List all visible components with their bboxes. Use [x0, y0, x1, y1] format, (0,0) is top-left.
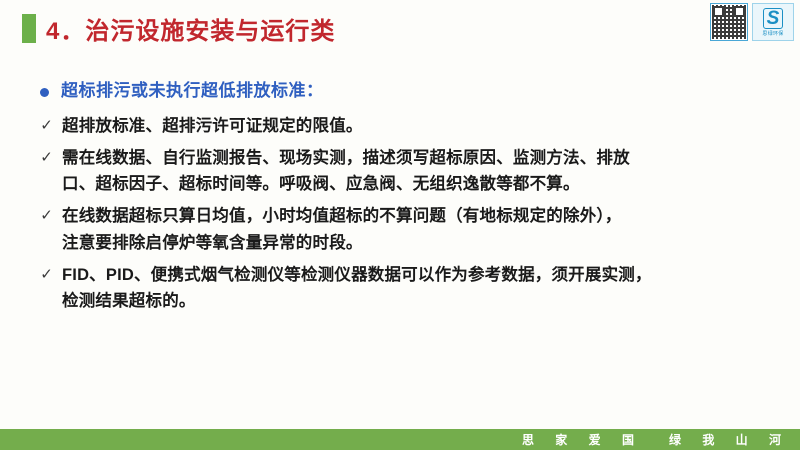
list-item-text: FID、PID、便携式烟气检测仪等检测仪器数据可以作为参考数据，须开展实测， 检…: [62, 262, 652, 315]
check-icon: ✓: [40, 150, 53, 165]
list-item: ✓ 在线数据超标只算日均值，小时均值超标的不算问题（有地标规定的除外）， 注意要…: [40, 203, 800, 256]
page-title: 4．治污设施安装与运行类: [46, 11, 335, 46]
check-icon: ✓: [40, 208, 53, 223]
list-item: ✓ FID、PID、便携式烟气检测仪等检测仪器数据可以作为参考数据，须开展实测，…: [40, 262, 800, 315]
slide-header: 4．治污设施安装与运行类 S 思绿环保: [0, 0, 800, 56]
list-item-line: 需在线数据、自行监测报告、现场实测，描述须写超标原因、监测方法、排放: [62, 145, 630, 172]
list-item-line: 口、超标因子、超标时间等。呼吸阀、应急阀、无组织逸散等都不算。: [62, 171, 630, 198]
list-item-line: 检测结果超标的。: [62, 288, 652, 315]
footer-phrase-left: 思 家 爱 国: [522, 431, 643, 448]
list-item-line: 注意要排除启停炉等氧含量异常的时段。: [62, 230, 622, 257]
lead-bullet-item: 超标排污或未执行超低排放标准：: [40, 80, 800, 103]
list-item: ✓ 超排放标准、超排污许可证规定的限值。: [40, 113, 800, 140]
lead-bullet-label: 超标排污或未执行超低排放标准：: [61, 80, 324, 103]
footer-phrase-right: 绿 我 山 河: [669, 431, 790, 448]
list-item-text: 在线数据超标只算日均值，小时均值超标的不算问题（有地标规定的除外）， 注意要排除…: [62, 203, 622, 256]
logo-area: S 思绿环保: [710, 3, 794, 41]
qr-code-icon[interactable]: [710, 3, 748, 41]
check-icon: ✓: [40, 267, 53, 282]
brand-logo[interactable]: S 思绿环保: [752, 3, 794, 41]
check-icon: ✓: [40, 118, 53, 133]
list-item-text: 超排放标准、超排污许可证规定的限值。: [62, 113, 363, 140]
brand-sub-label: 思绿环保: [762, 30, 783, 37]
qr-code-pattern: [712, 5, 746, 39]
title-accent-bar: [22, 14, 36, 43]
slide-content: 超标排污或未执行超低排放标准： ✓ 超排放标准、超排污许可证规定的限值。 ✓ 需…: [0, 80, 800, 320]
filled-circle-bullet-icon: [40, 88, 49, 97]
list-item-line: 超排放标准、超排污许可证规定的限值。: [62, 113, 363, 140]
list-item-line: FID、PID、便携式烟气检测仪等检测仪器数据可以作为参考数据，须开展实测，: [62, 262, 652, 289]
list-item: ✓ 需在线数据、自行监测报告、现场实测，描述须写超标原因、监测方法、排放 口、超…: [40, 145, 800, 198]
list-item-line: 在线数据超标只算日均值，小时均值超标的不算问题（有地标规定的除外），: [62, 203, 622, 230]
brand-mark-icon: S: [763, 8, 784, 29]
list-item-text: 需在线数据、自行监测报告、现场实测，描述须写超标原因、监测方法、排放 口、超标因…: [62, 145, 630, 198]
slide-footer: 思 家 爱 国 绿 我 山 河: [0, 429, 800, 450]
